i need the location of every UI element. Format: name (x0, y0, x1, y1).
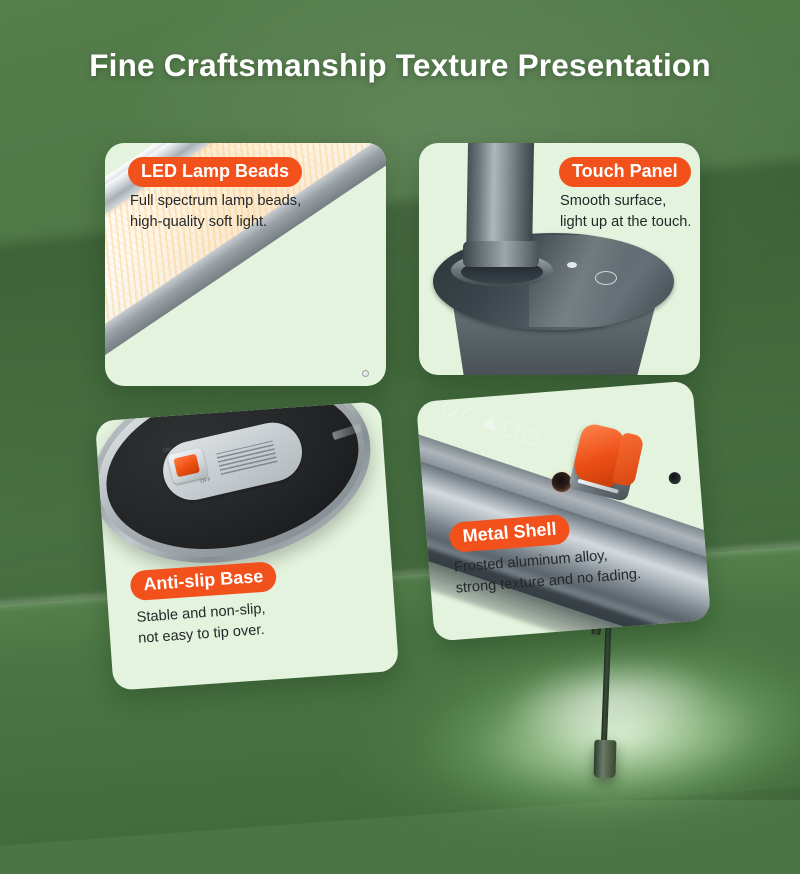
card-description-anti-slip-base: Stable and non-slip, not easy to tip ove… (136, 599, 268, 650)
card-badge-touch-panel: Touch Panel (559, 157, 691, 187)
feature-card-touch-panel[interactable]: Touch Panel Smooth surface, light up at … (419, 143, 700, 375)
indicator-led-icon (567, 262, 577, 268)
card-description-led-lamp-beads: Full spectrum lamp beads, high-quality s… (130, 191, 301, 233)
card-description-touch-panel: Smooth surface, light up at the touch. (560, 191, 691, 233)
page-title: Fine Craftsmanship Texture Presentation (0, 47, 800, 84)
rail-screw-icon (362, 370, 369, 377)
warning-cert-icon (481, 414, 500, 431)
weee-cert-icon (523, 427, 541, 445)
class2-cert-icon (503, 421, 521, 439)
recycle-cert-icon (461, 407, 479, 425)
wireless-cert-icon (441, 400, 459, 418)
screw-hole-icon (668, 472, 681, 485)
feature-card-metal-shell[interactable]: Metal Shell Frosted aluminum alloy, stro… (416, 381, 711, 642)
aluminum-arm-photo (416, 381, 711, 642)
feature-card-led-lamp-beads[interactable]: LED Lamp Beads Full spectrum lamp beads,… (105, 143, 386, 386)
lamp-stem-foot (594, 740, 617, 779)
feature-card-anti-slip-base[interactable]: ON OFF Anti-slip Base Stable and non-sli… (95, 401, 399, 690)
card-badge-led-lamp-beads: LED Lamp Beads (128, 157, 302, 187)
power-button-icon (595, 271, 617, 285)
pole-collar (463, 241, 539, 267)
